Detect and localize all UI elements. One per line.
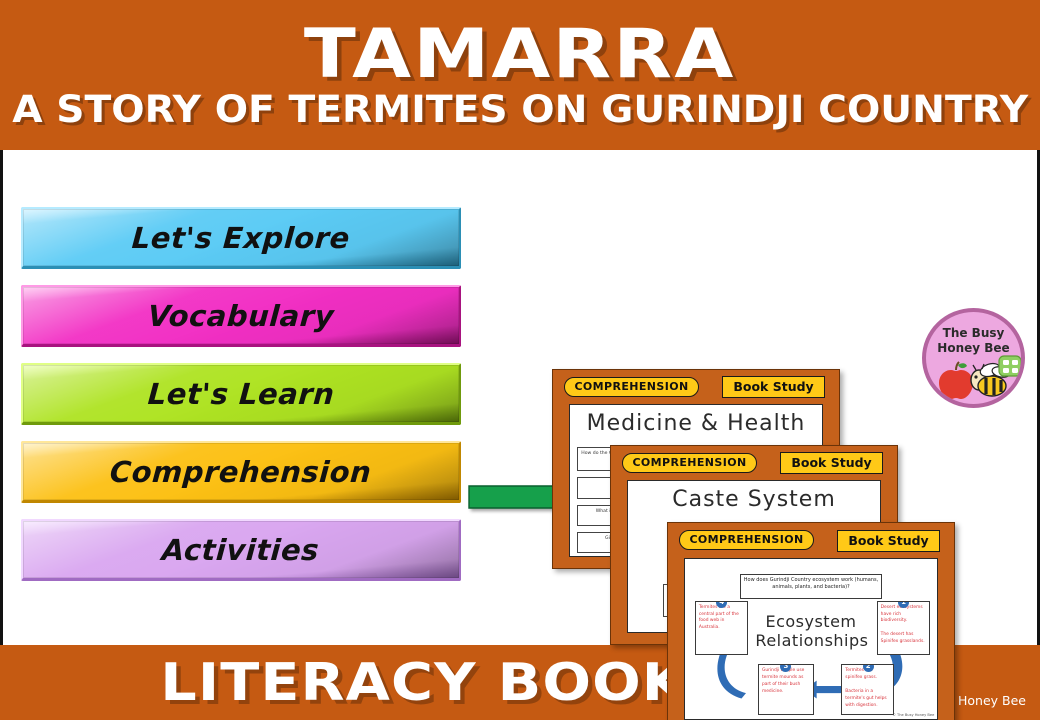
menu-bar-activities[interactable]: Activities bbox=[21, 519, 461, 581]
menu-bar-label: Activities bbox=[161, 533, 321, 567]
page-subtitle: A STORY OF TERMITES ON GURINDJI COUNTRY bbox=[12, 91, 1028, 128]
ecosystem-node-text: Gurindji People use termite mounds as pa… bbox=[762, 668, 804, 693]
menu-bar-label: Comprehension bbox=[109, 455, 373, 489]
card-credit: © The Busy Honey Bee bbox=[892, 713, 934, 717]
ecosystem-node-4: 4 Termites are a central part of the foo… bbox=[695, 601, 748, 655]
page-title: TAMARRA bbox=[304, 22, 736, 89]
menu-bar-label: Vocabulary bbox=[147, 299, 336, 333]
card-tag-comprehension: COMPREHENSION bbox=[679, 530, 813, 550]
card-tag-book-study: Book Study bbox=[837, 530, 939, 552]
ecosystem-node-text: Termites eat spinifex grass. Bacteria in… bbox=[845, 668, 886, 707]
top-banner: TAMARRA A STORY OF TERMITES ON GURINDJI … bbox=[0, 0, 1040, 150]
ecosystem-node-1: 1 Desert ecosystems have rich biodiversi… bbox=[877, 601, 930, 655]
ecosystem-node-text: Termites are a central part of the food … bbox=[699, 605, 739, 630]
card-heading: Caste System bbox=[628, 487, 881, 512]
ecosystem-node-3: 3 Gurindji People use termite mounds as … bbox=[758, 664, 814, 715]
card-tag-comprehension: COMPREHENSION bbox=[622, 453, 756, 473]
menu-bar-label: Let's Explore bbox=[131, 221, 351, 255]
worksheet-card-ecosystem-relationships[interactable]: COMPREHENSION Book Study How does Gurind… bbox=[667, 522, 955, 720]
content-stage: Let's Explore Vocabulary Let's Learn Com… bbox=[0, 150, 1040, 645]
poster-page: TAMARRA A STORY OF TERMITES ON GURINDJI … bbox=[0, 0, 1040, 720]
menu-bar-vocabulary[interactable]: Vocabulary bbox=[21, 285, 461, 347]
card-tag-comprehension: COMPREHENSION bbox=[564, 377, 698, 397]
brand-logo[interactable]: The Busy Honey Bee bbox=[922, 308, 1025, 408]
grid-icon bbox=[999, 356, 1021, 376]
ecosystem-node-text: Desert ecosystems have rich biodiversity… bbox=[881, 605, 925, 644]
ecosystem-node-2: 2 Termites eat spinifex grass. Bacteria … bbox=[841, 664, 894, 715]
card-heading: Medicine & Health bbox=[570, 411, 823, 436]
section-menu-list: Let's Explore Vocabulary Let's Learn Com… bbox=[21, 207, 461, 597]
card-tag-book-study: Book Study bbox=[722, 376, 824, 398]
ecosystem-node-number: 2 bbox=[863, 664, 874, 671]
apple-icon bbox=[939, 362, 973, 399]
menu-bar-lets-explore[interactable]: Let's Explore bbox=[21, 207, 461, 269]
menu-bar-comprehension[interactable]: Comprehension bbox=[21, 441, 461, 503]
card-body: How does Gurindji Country ecosystem work… bbox=[684, 558, 939, 719]
card-tag-book-study: Book Study bbox=[780, 452, 882, 474]
menu-bar-label: Let's Learn bbox=[147, 377, 336, 411]
menu-bar-lets-learn[interactable]: Let's Learn bbox=[21, 363, 461, 425]
